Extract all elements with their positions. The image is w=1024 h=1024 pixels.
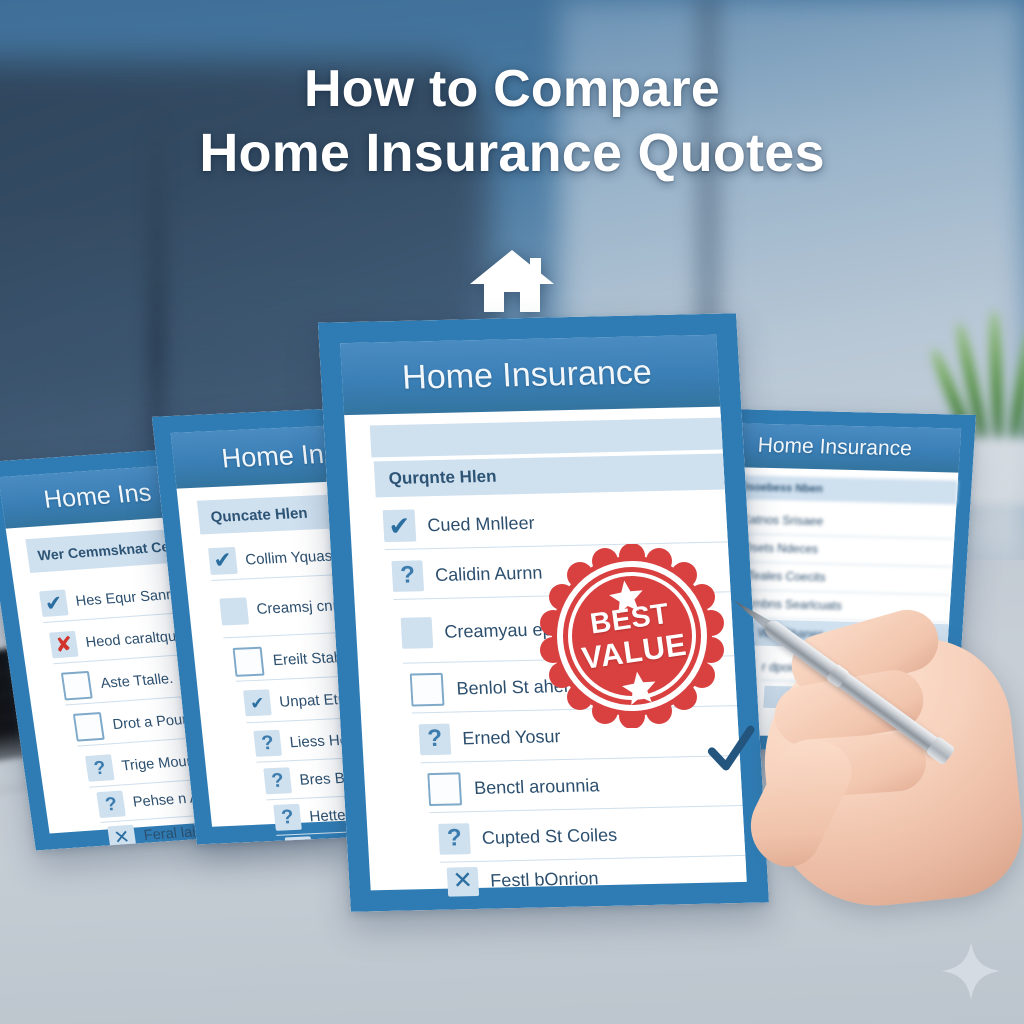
row-label: Cupted St Coiles (481, 824, 617, 848)
checkmark-icon[interactable]: ✔ (383, 509, 417, 542)
checkmark-icon[interactable]: ✔ (39, 590, 69, 618)
row-label: Collim Yquas (244, 547, 333, 568)
best-value-badge[interactable]: BEST VALUE (540, 544, 724, 728)
column-header-label: Quncate Hlen (210, 504, 309, 525)
question-icon[interactable]: ? (418, 723, 451, 755)
row-label: Cued Mnlleer (427, 512, 535, 535)
table-row[interactable]: ✕ Festl bOnrion (446, 855, 747, 902)
question-icon[interactable]: ? (253, 730, 282, 757)
question-icon[interactable]: ? (85, 754, 115, 782)
column-header-label: Isoebess Nben (745, 481, 823, 495)
x-icon[interactable]: ✕ (447, 866, 480, 896)
checkbox-empty[interactable] (232, 646, 264, 676)
title-line-1: How to Compare (304, 60, 720, 118)
column-header-label: Wer Cemmsknat Cem (37, 537, 183, 563)
table-row[interactable]: Benctl arounnia (427, 759, 743, 813)
question-icon[interactable]: ? (438, 823, 471, 855)
row-label: Benctl arounnia (474, 775, 600, 799)
row-label: Hes Equr Sanrer (75, 586, 185, 609)
row-label: Teales Coecits (747, 568, 826, 584)
table-row[interactable]: ✔ Cued Mnlleer (382, 495, 728, 550)
cross-icon[interactable]: ✘ (49, 631, 79, 659)
checkbox-empty[interactable] (73, 712, 105, 742)
house-icon (462, 244, 562, 316)
question-icon[interactable]: ? (273, 804, 302, 831)
row-label: Erned Yosur (462, 726, 561, 749)
checkbox-empty[interactable] (427, 772, 462, 806)
card-header-title: Home Insurance (757, 434, 913, 462)
card-header: Home Insurance (736, 423, 961, 472)
card-header-title: Home Ins (42, 478, 153, 514)
checkbox-empty[interactable] (410, 672, 445, 706)
checkmark-icon[interactable]: ✔ (208, 546, 238, 574)
writing-hand (756, 586, 1024, 916)
checkmark-icon[interactable]: ✔ (243, 689, 272, 716)
row-label: Dsets Ndeces (743, 540, 819, 556)
sparkle-star (940, 940, 1002, 1002)
question-icon[interactable]: ? (96, 790, 126, 818)
table-row[interactable]: ? Cupted St Coiles (438, 809, 746, 863)
title-line-2: Home Insurance Quotes (0, 121, 1024, 187)
card-header-title: Home Insurance (401, 353, 653, 398)
card-header-title: Home Ins (220, 438, 339, 474)
row-label: Calidin Aurnn (435, 562, 543, 585)
checkbox-filled[interactable] (219, 597, 249, 625)
row-label: Festl bOnrion (490, 868, 599, 891)
row-label: Catnos Srisaee (741, 512, 824, 528)
drawn-check-icon (704, 724, 760, 780)
checkbox-filled[interactable] (401, 617, 434, 649)
poster-canvas: How to Compare Home Insurance Quotes Hom… (0, 0, 1024, 1024)
question-icon[interactable]: ? (391, 560, 424, 592)
row-label: Heod caraltqur (85, 628, 182, 650)
column-header-label: Qurqnte Hlen (388, 467, 497, 489)
question-icon[interactable]: ? (263, 767, 292, 794)
checkbox-empty[interactable] (61, 671, 93, 701)
card-header: Home Insurance (340, 335, 720, 415)
plant-leaf (989, 310, 1004, 438)
plant-leaf (1008, 327, 1024, 439)
row-label: Aste Ttalle. (100, 671, 175, 692)
page-title: How to Compare Home Insurance Quotes (0, 58, 1024, 187)
